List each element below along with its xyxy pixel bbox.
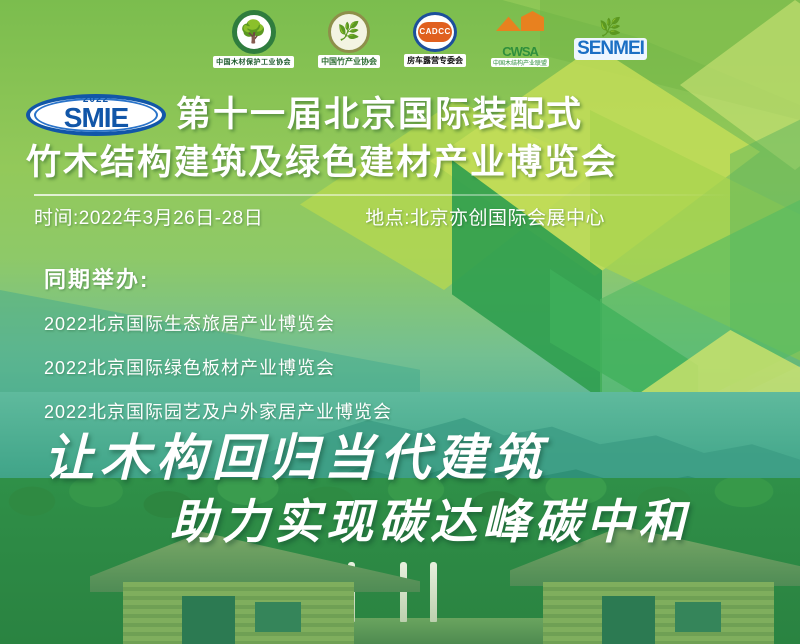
logo-bamboo-industry-association[interactable]: 🌿 中国竹产业协会: [318, 11, 380, 68]
concurrent-event-item: 2022北京国际绿色板材产业博览会: [44, 354, 564, 380]
logo-cadcc-rv-camping-committee[interactable]: CADCC 房车露营专委会: [404, 12, 466, 67]
logo-label: SENMEI: [574, 38, 647, 60]
logo-label: 中国木结构产业联盟: [491, 58, 549, 67]
slogan-line-1: 让木构回归当代建筑: [44, 418, 684, 490]
logo-senmei[interactable]: 🌿 SENMEI: [574, 18, 647, 60]
tree-in-circle-icon: 🌳: [232, 10, 276, 54]
smie-brand-logo[interactable]: 2022 SMIE: [26, 92, 166, 138]
title-line-1: 第十一届北京国际装配式: [176, 95, 583, 134]
concurrent-events-heading: 同期举办:: [44, 262, 564, 294]
logo-label: 中国竹产业协会: [318, 55, 380, 68]
event-date: 时间:2022年3月26日-28日: [34, 203, 263, 230]
cabin-door: [182, 596, 235, 644]
logo-china-wood-protection-industry-association[interactable]: 🌳 中国木材保护工业协会: [213, 10, 294, 68]
logo-label: 中国木材保护工业协会: [213, 56, 294, 68]
bamboo-seal-icon: 🌿: [328, 11, 370, 53]
concurrent-events-block: 同期举办: 2022北京国际生态旅居产业博览会 2022北京国际绿色板材产业博览…: [44, 262, 564, 442]
cabin-window: [255, 602, 301, 632]
title-line-2: 竹木结构建筑及绿色建材产业博览会: [26, 142, 774, 184]
umbrella: [430, 562, 437, 622]
logo-cwsa-china-wood-structure-alliance[interactable]: CWSA 中国木结构产业联盟: [490, 11, 550, 67]
leaf-icon: 🌿: [599, 18, 621, 36]
cabin-wall: [123, 582, 354, 644]
smie-acronym: SMIE: [64, 102, 128, 134]
headline-row-primary: 2022 SMIE 第十一届北京国际装配式: [26, 92, 774, 138]
organizer-logo-strip: 🌳 中国木材保护工业协会 🌿 中国竹产业协会 CADCC 房车露营专委会 CWS…: [0, 0, 800, 78]
cabin-window: [675, 602, 721, 632]
headline-divider: [34, 194, 734, 196]
cabin-door: [602, 596, 655, 644]
headline-block: 2022 SMIE 第十一届北京国际装配式 竹木结构建筑及绿色建材产业博览会: [0, 92, 800, 184]
cabin-wall: [543, 582, 774, 644]
house-roof-icon: [490, 11, 550, 45]
cwsa-acronym: CWSA: [502, 45, 538, 58]
cadcc-acronym: CADCC: [418, 22, 452, 42]
cadcc-badge-icon: CADCC: [413, 12, 457, 52]
exhibition-poster: 🌳 中国木材保护工业协会 🌿 中国竹产业协会 CADCC 房车露营专委会 CWS…: [0, 0, 800, 644]
concurrent-event-item: 2022北京国际生态旅居产业博览会: [44, 310, 564, 336]
logo-label: 房车露营专委会: [404, 54, 466, 67]
event-venue: 地点:北京亦创国际会展中心: [365, 203, 605, 230]
event-meta: 时间:2022年3月26日-28日 地点:北京亦创国际会展中心: [34, 203, 774, 230]
slogan-line-2: 助力实现碳达峰碳中和: [170, 483, 800, 552]
house-shape: [496, 11, 544, 31]
